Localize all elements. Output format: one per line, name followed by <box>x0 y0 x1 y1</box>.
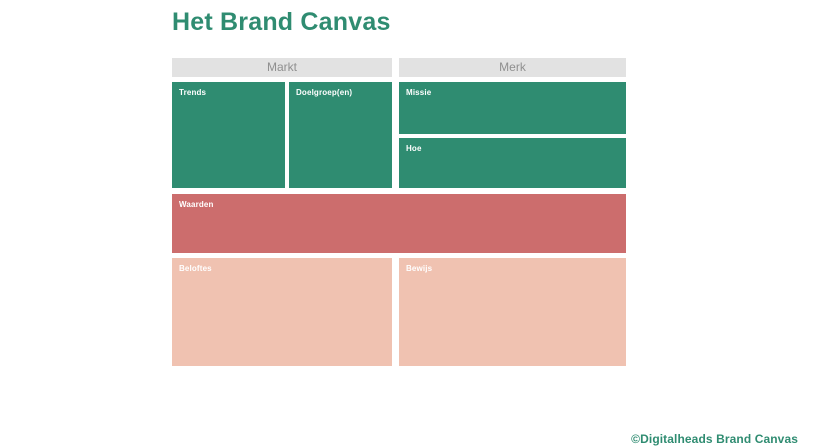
canvas-cell-waarden[interactable]: Waarden <box>172 194 626 253</box>
brand-canvas: Markt Merk Trends Doelgroep(en) Missie H… <box>172 58 626 366</box>
cell-label-missie: Missie <box>406 88 626 98</box>
canvas-cell-trends[interactable]: Trends <box>172 82 285 188</box>
canvas-cell-bewijs[interactable]: Bewijs <box>399 258 626 366</box>
canvas-cell-hoe[interactable]: Hoe <box>399 138 626 188</box>
cell-label-waarden: Waarden <box>179 200 626 210</box>
column-header-merk: Merk <box>399 58 626 77</box>
cell-label-trends: Trends <box>179 88 285 98</box>
page-title: Het Brand Canvas <box>172 8 391 37</box>
cell-label-hoe: Hoe <box>406 144 626 154</box>
column-header-markt: Markt <box>172 58 392 77</box>
canvas-cell-missie[interactable]: Missie <box>399 82 626 134</box>
cell-label-bewijs: Bewijs <box>406 264 626 274</box>
footer-credit: ©Digitalheads Brand Canvas <box>172 432 798 446</box>
canvas-cell-beloftes[interactable]: Beloftes <box>172 258 392 366</box>
canvas-cell-doelgroep[interactable]: Doelgroep(en) <box>289 82 392 188</box>
cell-label-beloftes: Beloftes <box>179 264 392 274</box>
cell-label-doelgroep: Doelgroep(en) <box>296 88 392 98</box>
